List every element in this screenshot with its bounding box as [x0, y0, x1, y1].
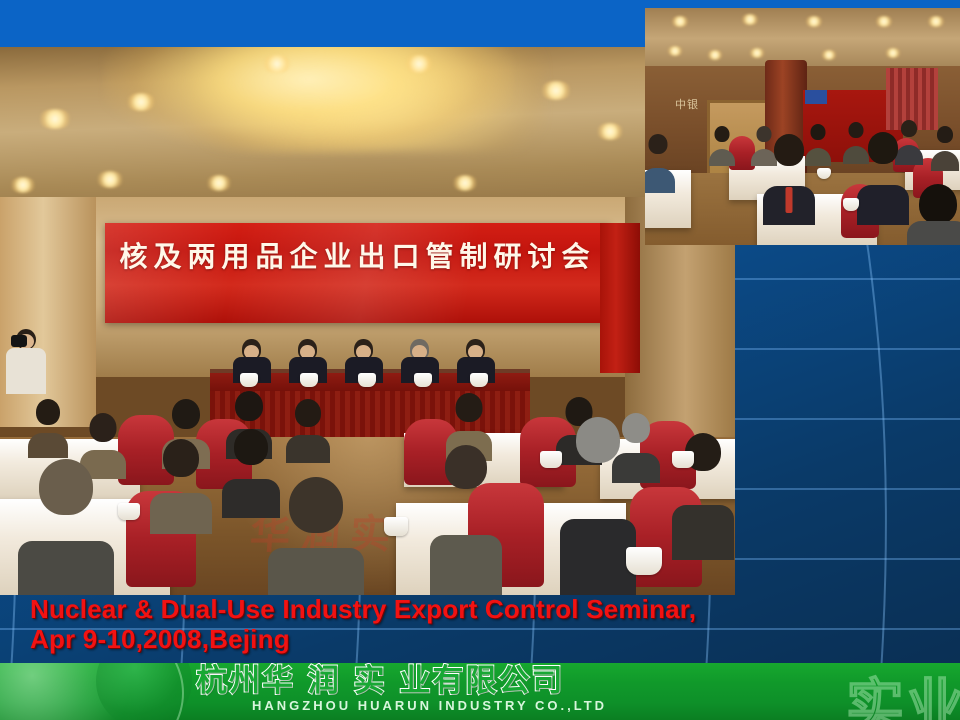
- attendee-foreground: [857, 132, 909, 220]
- red-curtain-strip: [600, 223, 640, 373]
- ceiling-spotlight: [10, 177, 36, 193]
- ceiling-spotlight: [749, 48, 765, 58]
- top-blue-strip: [0, 0, 680, 47]
- attendee-foreground: [907, 184, 960, 245]
- attendee: [709, 126, 735, 164]
- tea-cup: [118, 503, 140, 520]
- company-name-english: HANGZHOU HUARUN INDUSTRY CO.,LTD: [252, 698, 607, 713]
- ceiling-spotlight: [38, 109, 72, 129]
- ceiling-spotlight: [671, 16, 689, 27]
- tea-cup: [470, 373, 488, 387]
- ceiling-spotlight: [126, 93, 156, 111]
- company-name-chinese: 杭州华 润 实 业有限公司: [196, 664, 607, 698]
- ceiling-spotlight: [927, 16, 945, 27]
- tea-cup: [540, 451, 562, 468]
- ceiling-spotlight: [596, 123, 624, 140]
- ceiling-spotlight: [206, 175, 232, 191]
- chandelier: [103, 47, 515, 155]
- tr-projection-screen: [805, 90, 827, 104]
- footer-arc-graphic: [0, 663, 184, 720]
- attendee: [18, 459, 114, 595]
- tea-cup: [300, 373, 318, 387]
- attendee: [645, 134, 675, 190]
- ceiling-spotlight: [707, 50, 723, 60]
- ceiling-spotlight: [875, 16, 893, 27]
- slide-canvas: 核及两用品企业出口管制研讨会 华润实业: [0, 0, 960, 720]
- tea-cup: [626, 547, 662, 575]
- attendee: [286, 399, 330, 459]
- audience-closeup-photo: 中银: [645, 8, 960, 245]
- attendee: [560, 417, 636, 587]
- company-logo: 杭州华 润 实 业有限公司 HANGZHOU HUARUN INDUSTRY C…: [196, 664, 607, 713]
- ceiling-spotlight: [404, 55, 434, 73]
- main-conference-photo: 核及两用品企业出口管制研讨会 华润实业: [0, 47, 735, 595]
- ceiling-spotlight: [540, 81, 572, 100]
- tea-cup: [672, 451, 694, 468]
- ceiling-spotlight: [96, 171, 124, 188]
- attendee: [430, 445, 502, 595]
- red-conference-banner: 核及两用品企业出口管制研讨会: [105, 223, 610, 323]
- attendee-foreground: [763, 134, 815, 220]
- tea-cup: [843, 198, 859, 211]
- ceiling-spotlight: [452, 175, 478, 191]
- top-right-blue-strip: [645, 0, 960, 8]
- company-footer: 实业 杭州华 润 实 业有限公司 HANGZHOU HUARUN INDUSTR…: [0, 663, 960, 720]
- tea-cup: [384, 517, 408, 536]
- attendee: [931, 126, 959, 168]
- banner-text: 核及两用品企业出口管制研讨会: [105, 235, 610, 275]
- attendee: [268, 477, 364, 595]
- tea-cup: [240, 373, 258, 387]
- ceiling-spotlight: [262, 55, 292, 73]
- ceiling-spotlight: [667, 46, 683, 56]
- photographer: [4, 329, 48, 399]
- tea-cup: [414, 373, 432, 387]
- ceiling-spotlight: [885, 48, 901, 58]
- ceiling-spotlight: [821, 50, 837, 60]
- attendee: [150, 439, 212, 529]
- attendee: [28, 399, 68, 455]
- ceiling-spotlight: [805, 16, 823, 27]
- ceiling-spotlight: [741, 14, 759, 25]
- tea-cup: [358, 373, 376, 387]
- footer-watermark: 实业: [846, 663, 960, 720]
